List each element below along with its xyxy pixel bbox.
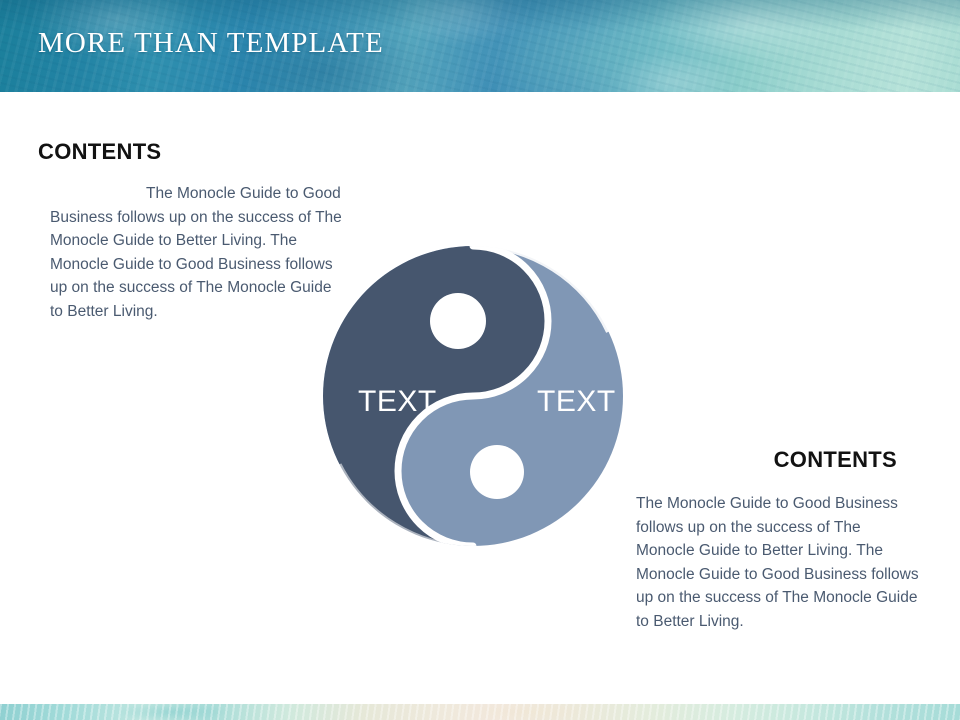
slide-canvas: MORE THAN TEMPLATE CONTENTS The Monocle … xyxy=(0,0,960,720)
yin-yang-right-label: TEXT xyxy=(537,385,616,419)
footer-watercolor-texture xyxy=(0,704,960,720)
header-top-shade xyxy=(0,0,960,30)
yin-yang-left-label: TEXT xyxy=(358,385,437,419)
right-contents-heading: CONTENTS xyxy=(462,447,897,473)
left-contents-heading: CONTENTS xyxy=(38,139,161,165)
left-contents-paragraph: The Monocle Guide to Good Business follo… xyxy=(50,182,342,323)
slide-title: MORE THAN TEMPLATE xyxy=(38,27,384,60)
footer-banner xyxy=(0,704,960,720)
yin-yang-dot-top xyxy=(430,293,486,349)
right-contents-paragraph: The Monocle Guide to Good Business follo… xyxy=(636,492,922,633)
